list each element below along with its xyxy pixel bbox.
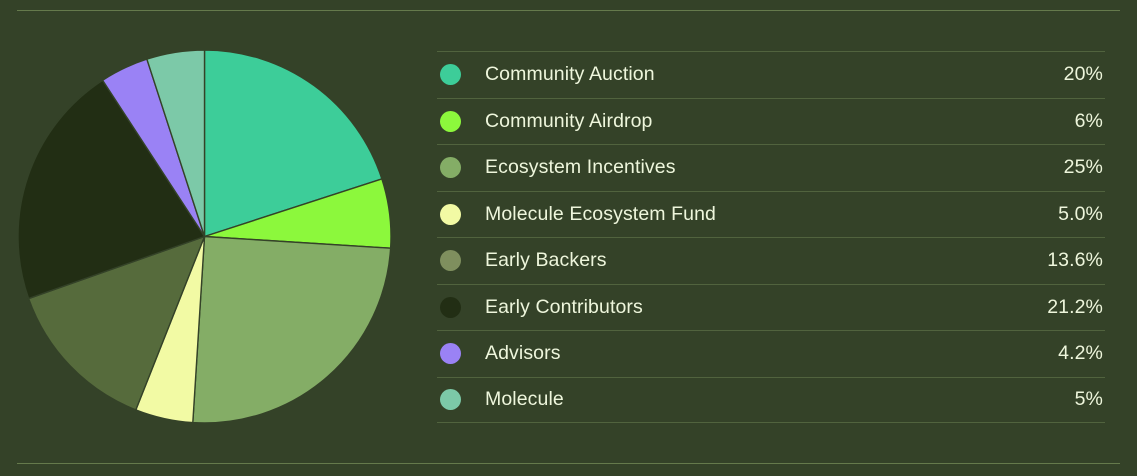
swatch-advisors [440, 343, 461, 364]
allocation-legend: Community Auction 20% Community Airdrop … [437, 51, 1105, 423]
legend-item-label: Community Auction [485, 63, 655, 86]
legend-row[interactable]: Early Contributors 21.2% [437, 284, 1105, 331]
legend-item-label: Community Airdrop [485, 110, 653, 133]
legend-item-value: 5% [1075, 388, 1105, 411]
legend-row[interactable]: Community Auction 20% [437, 51, 1105, 98]
pie-svg [18, 50, 391, 423]
swatch-early-backers [440, 250, 461, 271]
legend-item-value: 21.2% [1047, 296, 1105, 319]
top-divider [17, 10, 1120, 11]
legend-item-label: Molecule Ecosystem Fund [485, 203, 716, 226]
legend-item-label: Early Backers [485, 249, 607, 272]
pie-slice[interactable] [193, 237, 391, 423]
token-allocation-panel: Community Auction 20% Community Airdrop … [0, 0, 1137, 476]
swatch-molecule [440, 389, 461, 410]
legend-row[interactable]: Ecosystem Incentives 25% [437, 144, 1105, 191]
legend-item-value: 25% [1064, 156, 1105, 179]
legend-item-value: 20% [1064, 63, 1105, 86]
swatch-ecosystem-incentives [440, 157, 461, 178]
legend-item-label: Advisors [485, 342, 561, 365]
swatch-community-airdrop [440, 111, 461, 132]
swatch-molecule-ecosystem-fund [440, 204, 461, 225]
legend-item-value: 5.0% [1058, 203, 1105, 226]
legend-row[interactable]: Molecule 5% [437, 377, 1105, 424]
swatch-early-contributors [440, 297, 461, 318]
allocation-pie-chart [18, 50, 391, 423]
legend-item-value: 13.6% [1047, 249, 1105, 272]
legend-row[interactable]: Early Backers 13.6% [437, 237, 1105, 284]
legend-item-value: 6% [1075, 110, 1105, 133]
swatch-community-auction [440, 64, 461, 85]
legend-row[interactable]: Community Airdrop 6% [437, 98, 1105, 145]
legend-row[interactable]: Advisors 4.2% [437, 330, 1105, 377]
legend-row[interactable]: Molecule Ecosystem Fund 5.0% [437, 191, 1105, 238]
legend-item-label: Early Contributors [485, 296, 643, 319]
bottom-divider [17, 463, 1120, 464]
legend-item-value: 4.2% [1058, 342, 1105, 365]
legend-item-label: Ecosystem Incentives [485, 156, 676, 179]
legend-item-label: Molecule [485, 388, 564, 411]
